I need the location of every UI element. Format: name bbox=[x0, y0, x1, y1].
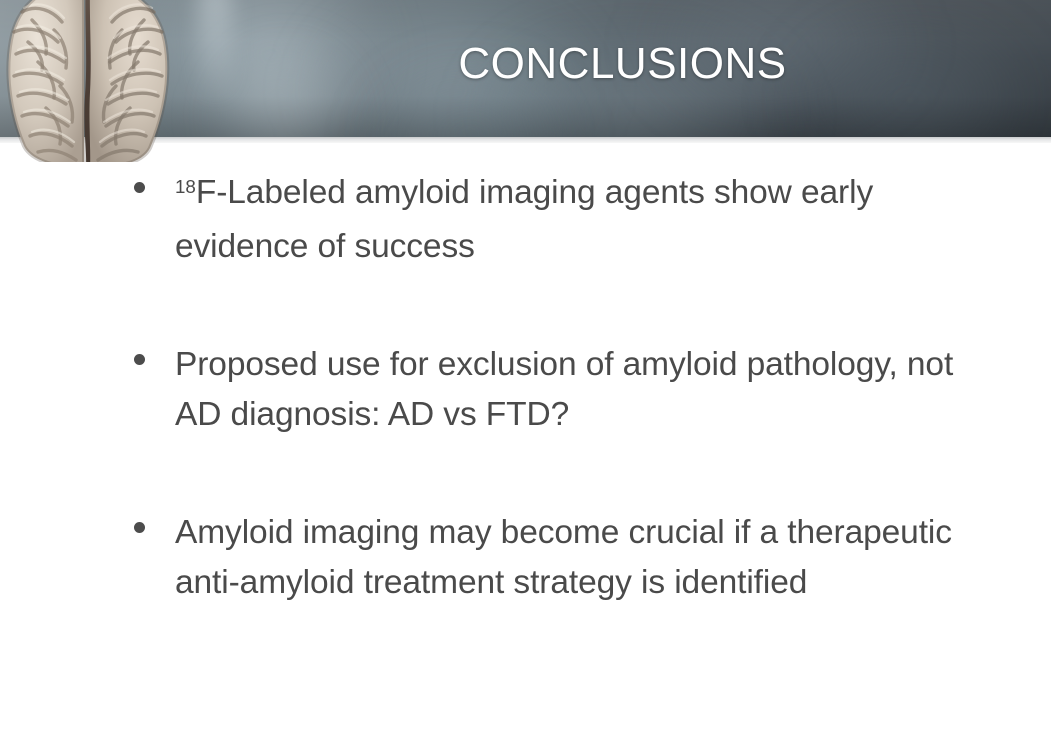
slide-title-text: CONCLUSIONS bbox=[458, 38, 786, 90]
bullet-body: Amyloid imaging may become crucial if a … bbox=[175, 514, 952, 601]
brain-icon bbox=[2, 0, 174, 166]
bullet-item: Amyloid imaging may become crucial if a … bbox=[0, 508, 1051, 608]
bullet-item: 18F-Labeled amyloid imaging agents show … bbox=[0, 168, 1051, 272]
bullet-marker-icon bbox=[134, 182, 145, 193]
bullet-text: Amyloid imaging may become crucial if a … bbox=[175, 508, 975, 608]
bullet-body: F-Labeled amyloid imaging agents show ea… bbox=[175, 174, 873, 265]
brain-bottom-crop bbox=[2, 162, 174, 166]
bullet-marker-icon bbox=[134, 522, 145, 533]
presentation-slide: CONCLUSIONS bbox=[0, 0, 1051, 749]
bullet-marker-icon bbox=[134, 354, 145, 365]
isotope-superscript: 18 bbox=[175, 176, 196, 197]
bullet-body: Proposed use for exclusion of amyloid pa… bbox=[175, 346, 953, 433]
slide-body: 18F-Labeled amyloid imaging agents show … bbox=[0, 168, 1051, 608]
bullet-text: Proposed use for exclusion of amyloid pa… bbox=[175, 340, 975, 440]
bullet-item: Proposed use for exclusion of amyloid pa… bbox=[0, 340, 1051, 440]
brain-illustration bbox=[2, 0, 174, 166]
bullet-text: 18F-Labeled amyloid imaging agents show … bbox=[175, 168, 975, 272]
